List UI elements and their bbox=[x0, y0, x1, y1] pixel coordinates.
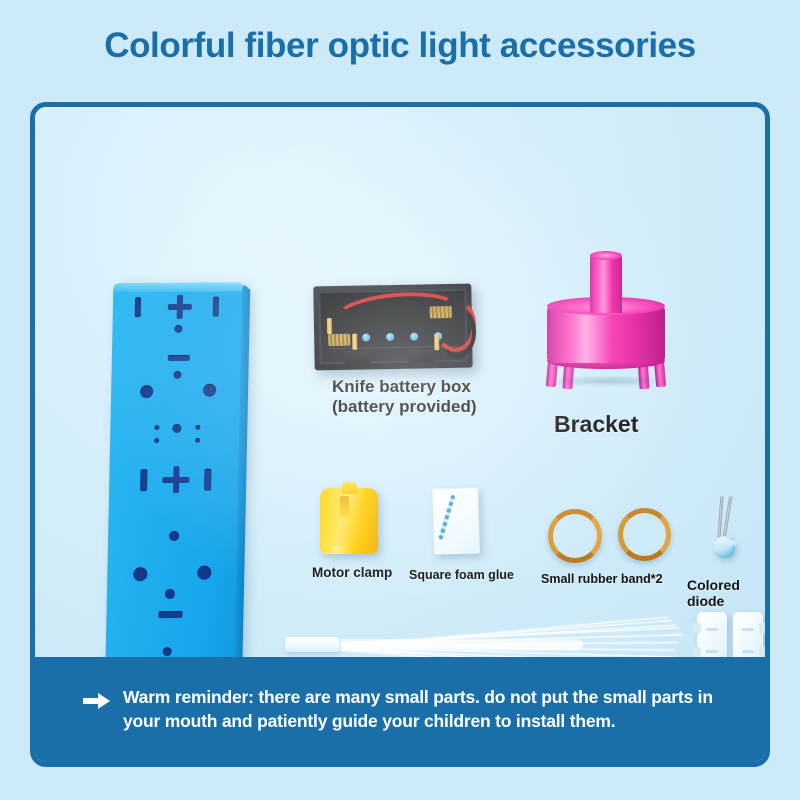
battery-box-image bbox=[313, 284, 472, 371]
warm-reminder-bar: Warm reminder: there are many small part… bbox=[35, 657, 765, 762]
colored-diode-image bbox=[707, 496, 741, 558]
bracket-image bbox=[535, 255, 677, 390]
rubber-band-label: Small rubber band*2 bbox=[541, 572, 663, 586]
square-foam-glue-image bbox=[432, 487, 480, 554]
battery-box-label: Knife battery box (battery provided) bbox=[332, 377, 477, 416]
infographic-page: Colorful fiber optic light accessories bbox=[0, 0, 800, 800]
arrow-right-icon bbox=[83, 692, 111, 715]
warm-reminder-text: Warm reminder: there are many small part… bbox=[123, 686, 723, 733]
page-title: Colorful fiber optic light accessories bbox=[0, 26, 800, 66]
rubber-band-image-1 bbox=[548, 509, 602, 563]
square-foam-glue-label: Square foam glue bbox=[409, 568, 514, 582]
parts-stage: Bottom plate bbox=[35, 107, 765, 667]
motor-clamp-label: Motor clamp bbox=[312, 565, 392, 581]
motor-clamp-image bbox=[320, 482, 378, 554]
bracket-label: Bracket bbox=[554, 411, 638, 437]
colored-diode-label: Colored diode bbox=[687, 577, 765, 609]
bottom-plate-image bbox=[103, 279, 255, 711]
product-panel: Bottom plate bbox=[30, 102, 770, 767]
rubber-band-image-2 bbox=[618, 508, 671, 561]
